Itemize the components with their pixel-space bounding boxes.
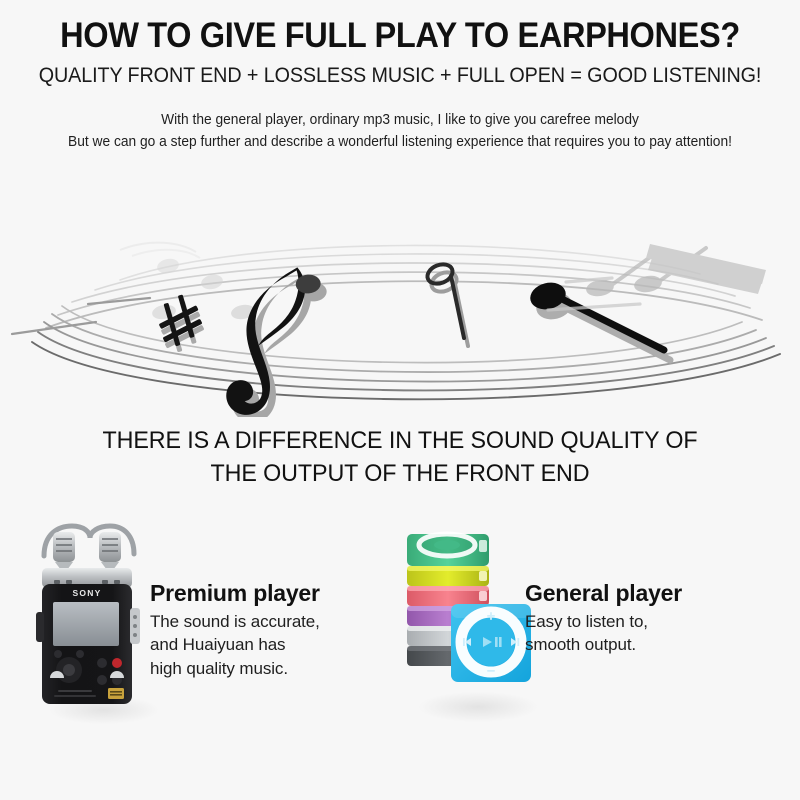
left-microphone [53, 532, 75, 574]
section-heading-line-1: THERE IS A DIFFERENCE IN THE SOUND QUALI… [20, 425, 780, 458]
general-copy: General player Easy to listen to, smooth… [525, 580, 682, 657]
product-card-general: General player Easy to listen to, smooth… [395, 520, 785, 730]
premium-desc-line-2: and Huaiyuan has [150, 633, 320, 656]
intro-line-2: But we can go a step further and describ… [20, 131, 780, 153]
music-staff-illustration [0, 222, 800, 417]
background-notes-left [120, 243, 256, 321]
record-button [112, 658, 122, 668]
product-comparison: SONY [0, 520, 800, 730]
product-card-premium: SONY [28, 520, 388, 730]
half-note [425, 261, 468, 346]
page-title: HOW TO GIVE FULL PLAY TO EARPHONES? [28, 18, 772, 55]
general-desc-line-1: Easy to listen to, [525, 610, 682, 633]
sony-recorder-image: SONY [28, 520, 146, 710]
intro-paragraph: With the general player, ordinary mp3 mu… [20, 109, 780, 154]
premium-desc-line-1: The sound is accurate, [150, 610, 320, 633]
general-desc-line-2: smooth output. [525, 633, 682, 656]
premium-title: Premium player [150, 580, 320, 607]
poster-page: HOW TO GIVE FULL PLAY TO EARPHONES? QUAL… [0, 0, 800, 800]
section-heading: THERE IS A DIFFERENCE IN THE SOUND QUALI… [20, 425, 780, 490]
stack-item-yellow [407, 566, 489, 586]
premium-copy: Premium player The sound is accurate, an… [150, 580, 320, 680]
premium-description: The sound is accurate, and Huaiyuan has … [150, 610, 320, 680]
page-subtitle: QUALITY FRONT END + LOSSLESS MUSIC + FUL… [24, 64, 776, 88]
stack-item-green [407, 534, 489, 566]
right-microphone [99, 532, 121, 574]
general-description: Easy to listen to, smooth output. [525, 610, 682, 657]
hi-res-badge [108, 688, 124, 699]
sharp-symbol [153, 291, 209, 355]
volume-down-icon [487, 670, 495, 672]
recorder-screen [53, 602, 119, 646]
section-heading-line-2: THE OUTPUT OF THE FRONT END [20, 458, 780, 491]
treble-clef [222, 258, 332, 417]
svg-text:SONY: SONY [73, 588, 102, 598]
front-player-blue [451, 604, 531, 682]
premium-desc-line-3: high quality music. [150, 657, 320, 680]
intro-line-1: With the general player, ordinary mp3 mu… [20, 109, 780, 131]
mp3-player-stack-image [395, 520, 535, 705]
header: HOW TO GIVE FULL PLAY TO EARPHONES? QUAL… [0, 0, 800, 154]
left-grip [36, 612, 44, 642]
stack-item-pink [407, 586, 489, 606]
general-title: General player [525, 580, 682, 607]
